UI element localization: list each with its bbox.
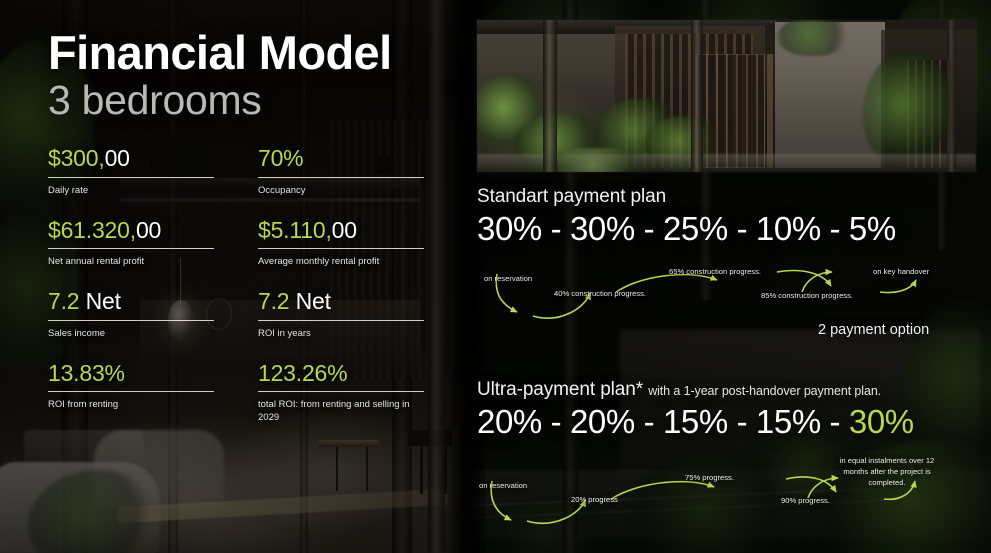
stat-value-accent: 7.2 <box>258 288 296 314</box>
stat-value: $5.110,00 <box>258 218 424 244</box>
stat-value: 70% <box>258 146 424 172</box>
ultra-milestone-1: on reservation <box>479 480 527 491</box>
stat-label: Average monthly rental profit <box>258 256 424 269</box>
stat-card: 70% Occupancy <box>258 146 424 198</box>
ultra-plan-values-accent: 30% <box>849 403 914 440</box>
stat-divider <box>258 320 424 321</box>
stat-divider <box>48 248 214 249</box>
stat-divider <box>48 391 214 392</box>
standard-payment-plan: Standart payment plan 30% - 30% - 25% - … <box>477 186 896 248</box>
stat-divider <box>258 391 424 392</box>
stat-card: 7.2 Net Sales income <box>48 289 214 341</box>
stat-value: 13.83% <box>48 361 214 387</box>
stat-divider <box>258 177 424 178</box>
stat-label: Sales income <box>48 328 214 341</box>
ultra-plan-heading: Ultra-payment plan* with a 1-year post-h… <box>477 379 914 401</box>
stat-value-accent: $300, <box>48 145 105 171</box>
stat-value-plain: 00 <box>105 145 130 171</box>
standard-milestone-3: 65% construction progress. <box>669 266 761 277</box>
stat-value-plain: Net <box>296 288 331 314</box>
stat-value-accent: $61.320, <box>48 217 136 243</box>
ultra-plan-values: 20% - 20% - 15% - 15% - 30% <box>477 403 914 441</box>
stat-card: 7.2 Net ROI in years <box>258 289 424 341</box>
stat-value-accent: 70% <box>258 145 303 171</box>
standard-plan-values: 30% - 30% - 25% - 10% - 5% <box>477 210 896 248</box>
stat-value: 7.2 Net <box>258 289 424 315</box>
stat-label: ROI in years <box>258 328 424 341</box>
stat-label: total ROI: from renting and selling in 2… <box>258 399 424 425</box>
stat-label: ROI from renting <box>48 399 214 412</box>
stat-value-plain: 00 <box>136 217 161 243</box>
slide-content: Financial Model 3 bedrooms $300,00 Daily… <box>0 0 991 553</box>
stats-row: 7.2 Net Sales income 7.2 Net ROI in year… <box>48 289 424 361</box>
standard-plan-heading: Standart payment plan <box>477 186 896 208</box>
stat-value-plain: 00 <box>332 217 357 243</box>
stats-row: 13.83% ROI from renting 123.26% total RO… <box>48 361 424 445</box>
stat-value: 123.26% <box>258 361 424 387</box>
page-title: Financial Model <box>48 29 392 76</box>
stat-value-accent: $5.110, <box>258 217 332 243</box>
standard-milestone-5: on key handover <box>873 266 929 277</box>
ultra-milestone-3: 75% progress. <box>685 472 734 483</box>
stats-grid: $300,00 Daily rate 70% Occupancy $61.320… <box>48 146 424 445</box>
stats-row: $61.320,00 Net annual rental profit $5.1… <box>48 218 424 290</box>
standard-milestone-1: on reservation <box>484 273 532 284</box>
stat-card: $300,00 Daily rate <box>48 146 214 198</box>
stat-label: Occupancy <box>258 185 424 198</box>
ultra-plan-heading-main: Ultra-payment plan* <box>477 379 643 400</box>
stat-card: $5.110,00 Average monthly rental profit <box>258 218 424 270</box>
standard-milestone-4: 85% construction progress. <box>761 290 853 301</box>
stat-divider <box>258 248 424 249</box>
ultra-milestone-4: 90% progress. <box>781 495 830 506</box>
financial-model-slide: Financial Model 3 bedrooms $300,00 Daily… <box>0 0 991 553</box>
ultra-plan-values-plain: 20% - 20% - 15% - 15% - <box>477 403 849 440</box>
stat-value: 7.2 Net <box>48 289 214 315</box>
standard-milestone-2: 40% construction progress. <box>554 288 646 299</box>
stat-value: $61.320,00 <box>48 218 214 244</box>
stat-card: $61.320,00 Net annual rental profit <box>48 218 214 270</box>
stat-card: 13.83% ROI from renting <box>48 361 214 425</box>
stat-value: $300,00 <box>48 146 214 172</box>
stat-label: Daily rate <box>48 185 214 198</box>
stat-divider <box>48 320 214 321</box>
stat-divider <box>48 177 214 178</box>
stat-value-accent: 123.26% <box>258 360 347 386</box>
stat-label: Net annual rental profit <box>48 256 214 269</box>
ultra-milestone-5: in equal instalments over 12 months afte… <box>827 455 947 488</box>
stats-row: $300,00 Daily rate 70% Occupancy <box>48 146 424 218</box>
stat-card: 123.26% total ROI: from renting and sell… <box>258 361 424 425</box>
stat-value-plain: Net <box>86 288 121 314</box>
stat-value-accent: 13.83% <box>48 360 125 386</box>
ultra-milestone-2: 20% progress <box>571 494 618 505</box>
ultra-payment-plan: Ultra-payment plan* with a 1-year post-h… <box>477 379 914 441</box>
payment-option-count: 2 payment option <box>818 322 929 338</box>
ultra-plan-heading-sub: with a 1-year post-handover payment plan… <box>648 384 881 398</box>
page-subtitle: 3 bedrooms <box>48 80 262 121</box>
stat-value-accent: 7.2 <box>48 288 86 314</box>
